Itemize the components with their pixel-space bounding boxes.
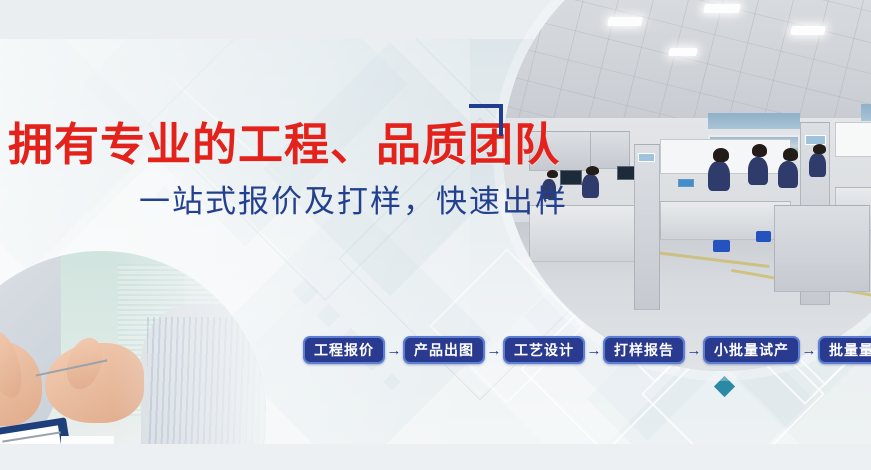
process-step-5[interactable]: 小批量试产 — [703, 336, 800, 364]
business-meeting-photo — [0, 251, 266, 470]
flow-arrow-icon: → — [485, 336, 503, 364]
promo-banner: 拥有专业的工程、品质团队 一站式报价及打样，快速出样 工程报价→产品出图→工艺设… — [0, 0, 871, 470]
flow-arrow-icon: → — [800, 336, 818, 364]
process-step-1[interactable]: 工程报价 — [303, 336, 385, 364]
process-step-2[interactable]: 产品出图 — [403, 336, 485, 364]
background-bottom-band — [0, 444, 871, 470]
flow-arrow-icon: → — [685, 336, 703, 364]
process-step-6[interactable]: 批量量产 — [818, 336, 871, 364]
process-step-3[interactable]: 工艺设计 — [503, 336, 585, 364]
flow-arrow-icon: → — [585, 336, 603, 364]
corner-bracket-icon — [469, 104, 503, 136]
flow-arrow-icon: → — [385, 336, 403, 364]
banner-subheadline: 一站式报价及打样，快速出样 — [139, 183, 568, 221]
process-flow: 工程报价→产品出图→工艺设计→打样报告→小批量试产→批量量产 — [303, 336, 871, 364]
process-step-4[interactable]: 打样报告 — [603, 336, 685, 364]
